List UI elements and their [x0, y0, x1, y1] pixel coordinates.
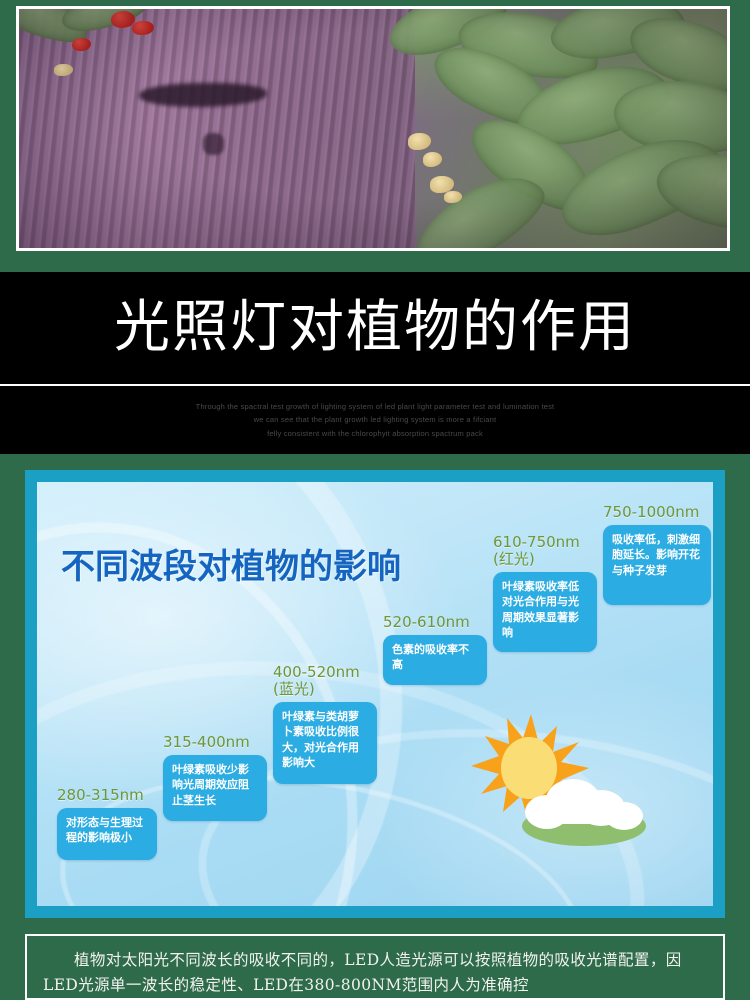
greenhouse-photo [19, 9, 727, 248]
furrow-shadow-2 [203, 133, 224, 155]
strawberry [72, 38, 90, 51]
spectrum-band-750-1000: 750-1000nm 吸收率低，刺激细胞延长。影响开花与种子发芽 [603, 504, 713, 605]
band-sublabel: (红光) [493, 550, 535, 568]
hero-photo-section [0, 0, 750, 272]
band-range: 750-1000nm [603, 503, 699, 521]
band-label: 400-520nm (蓝光) [273, 664, 385, 698]
flower-bud [444, 191, 462, 203]
spectrum-band-280-315: 280-315nm 对形态与生理过程的影响极小 [57, 787, 165, 860]
subtitle-line-3: felly consistent with the chlorophyit ab… [267, 428, 483, 440]
band-description: 叶绿素吸收率低对光合作用与光周期效果显著影响 [493, 572, 597, 652]
band-range: 400-520nm [273, 663, 360, 681]
band-description: 叶绿素与类胡萝卜素吸收比例很大，对光合作用影响大 [273, 702, 377, 784]
band-range: 610-750nm [493, 533, 580, 551]
product-detail-page: 光照灯对植物的作用 Through the spactral test grow… [0, 0, 750, 1000]
spectrum-band-610-750: 610-750nm (红光) 叶绿素吸收率低对光合作用与光周期效果显著影响 [493, 534, 605, 652]
band-label: 750-1000nm [603, 504, 713, 521]
subtitle-band: Through the spactral test growth of ligh… [0, 386, 750, 454]
spectrum-band-315-400: 315-400nm 叶绿素吸收少影响光周期效应阻止茎生长 [163, 734, 275, 821]
band-range: 520-610nm [383, 613, 470, 631]
title-band: 光照灯对植物的作用 [0, 272, 750, 384]
band-label: 315-400nm [163, 734, 275, 751]
spectrum-band-400-520: 400-520nm (蓝光) 叶绿素与类胡萝卜素吸收比例很大，对光合作用影响大 [273, 664, 385, 784]
band-description: 色素的吸收率不高 [383, 635, 487, 685]
spectrum-infographic-panel: 不同波段对植物的影响 280-315nm 对形态与生理过程的影响极小 315-4… [25, 470, 725, 918]
band-description: 吸收率低，刺激细胞延长。影响开花与种子发芽 [603, 525, 711, 605]
band-description: 叶绿素吸收少影响光周期效应阻止茎生长 [163, 755, 267, 821]
spectrum-infographic-canvas: 不同波段对植物的影响 280-315nm 对形态与生理过程的影响极小 315-4… [37, 482, 713, 906]
flower-bud [423, 152, 443, 166]
subtitle-line-1: Through the spactral test growth of ligh… [196, 401, 555, 413]
footer-description-box: 植物对太阳光不同波长的吸收不同的，LED人造光源可以按照植物的吸收光谱配置，因L… [25, 934, 725, 1000]
band-label: 520-610nm [383, 614, 495, 631]
hero-photo-frame [16, 6, 730, 251]
band-range: 280-315nm [57, 786, 144, 804]
band-label: 280-315nm [57, 787, 165, 804]
band-range: 315-400nm [163, 733, 250, 751]
spectrum-band-520-610: 520-610nm 色素的吸收率不高 [383, 614, 495, 685]
band-sublabel: (蓝光) [273, 680, 315, 698]
subtitle-line-2: we can see that the plant growth led lig… [254, 414, 497, 426]
flower-bud [408, 133, 431, 150]
infographic-heading: 不同波段对植物的影响 [61, 550, 401, 584]
band-description: 对形态与生理过程的影响极小 [57, 808, 157, 860]
sun-cloud-illustration [469, 710, 659, 850]
page-title: 光照灯对植物的作用 [114, 300, 636, 356]
footer-paragraph: 植物对太阳光不同波长的吸收不同的，LED人造光源可以按照植物的吸收光谱配置，因L… [27, 936, 723, 998]
band-label: 610-750nm (红光) [493, 534, 605, 568]
